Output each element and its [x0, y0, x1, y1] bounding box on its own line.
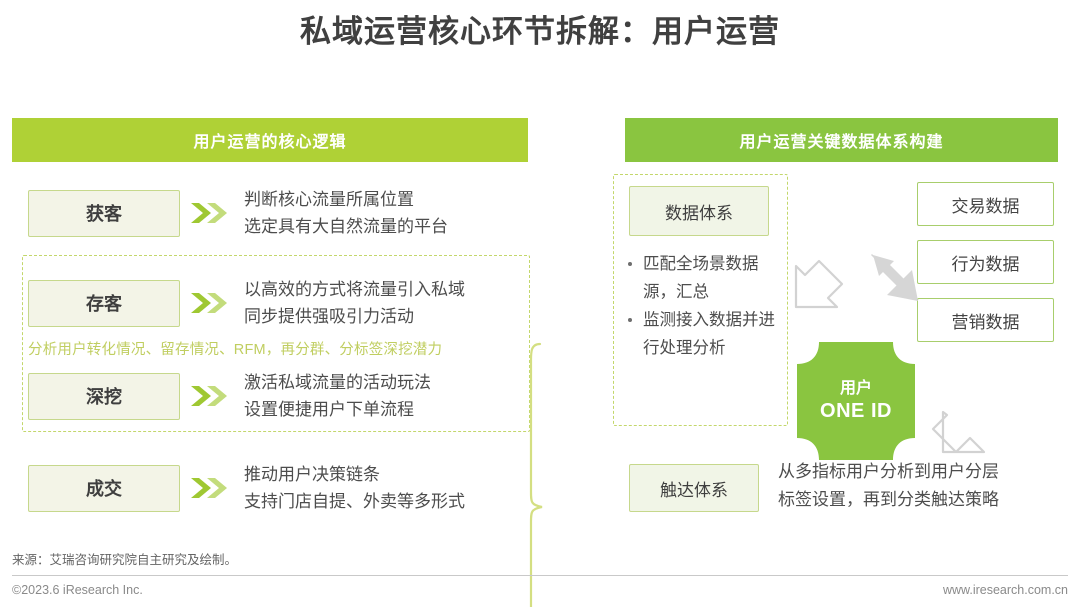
double-chevron-icon: [187, 476, 233, 500]
step-desc-retain: 以高效的方式将流量引入私域 同步提供强吸引力活动: [244, 276, 465, 330]
right-panel-header-label: 用户运营关键数据体系构建: [739, 128, 943, 152]
footer-website: www.iresearch.com.cn: [943, 583, 1068, 597]
curly-brace-icon: [528, 342, 562, 607]
step-desc-deepen: 激活私域流量的活动玩法 设置便捷用户下单流程: [244, 369, 431, 423]
data-tag-behavior[interactable]: 行为数据: [917, 240, 1054, 284]
step-desc-acquire: 判断核心流量所属位置 选定具有大自然流量的平台: [244, 186, 448, 240]
step-row-acquire: 获客 判断核心流量所属位置 选定具有大自然流量的平台: [28, 184, 448, 242]
step-label-deepen: 深挖: [86, 383, 122, 409]
data-system-bullets: 匹配全场景数据源，汇总 监测接入数据并进行处理分析: [626, 250, 781, 362]
double-chevron-icon: [187, 201, 233, 225]
one-id-badge: 用户 ONE ID: [797, 342, 915, 460]
step-label-retain: 存客: [86, 290, 122, 316]
chip-data-system-label: 数据体系: [665, 199, 733, 224]
step-chip-acquire[interactable]: 获客: [28, 190, 180, 237]
arrow-down-right-outline-icon: [796, 261, 842, 307]
data-tag-marketing[interactable]: 营销数据: [917, 298, 1054, 342]
footer-copyright: ©2023.6 iResearch Inc.: [12, 583, 143, 597]
step-row-retain: 存客 以高效的方式将流量引入私域 同步提供强吸引力活动: [28, 274, 465, 332]
data-tag-label: 行为数据: [952, 250, 1020, 275]
left-panel-header-label: 用户运营的核心逻辑: [193, 128, 346, 152]
chip-reach-system[interactable]: 触达体系: [629, 464, 759, 512]
step-label-acquire: 获客: [86, 200, 122, 226]
double-chevron-icon: [187, 291, 233, 315]
step-label-convert: 成交: [86, 475, 122, 501]
analysis-note: 分析用户转化情况、留存情况、RFM，再分群、分标签深挖潜力: [28, 338, 442, 359]
slide-canvas: 私域运营核心环节拆解：用户运营 用户运营的核心逻辑 用户运营关键数据体系构建 获…: [0, 0, 1080, 607]
right-panel-header: 用户运营关键数据体系构建: [625, 118, 1058, 162]
step-desc-convert: 推动用户决策链条 支持门店自提、外卖等多形式: [244, 461, 465, 515]
source-note: 来源：艾瑞咨询研究院自主研究及绘制。: [12, 549, 237, 568]
double-chevron-icon: [187, 384, 233, 408]
arrow-down-left-solid-icon: [871, 254, 918, 301]
step-row-convert: 成交 推动用户决策链条 支持门店自提、外卖等多形式: [28, 459, 465, 517]
right-panel-body: 数据体系 匹配全场景数据源，汇总 监测接入数据并进行处理分析 交易数据 行为数据…: [600, 162, 1080, 542]
arrow-up-left-outline-icon: [933, 412, 984, 452]
list-item: 匹配全场景数据源，汇总: [626, 250, 781, 306]
step-chip-deepen[interactable]: 深挖: [28, 373, 180, 420]
data-tag-transaction[interactable]: 交易数据: [917, 182, 1054, 226]
left-panel-header: 用户运营的核心逻辑: [12, 118, 528, 162]
chip-data-system[interactable]: 数据体系: [629, 186, 769, 236]
chip-reach-system-label: 触达体系: [660, 476, 728, 501]
one-id-shape: [797, 342, 915, 460]
left-panel-body: 获客 判断核心流量所属位置 选定具有大自然流量的平台 存客 以高效的方: [0, 162, 580, 542]
data-tag-label: 交易数据: [952, 192, 1020, 217]
step-chip-convert[interactable]: 成交: [28, 465, 180, 512]
page-title: 私域运营核心环节拆解：用户运营: [0, 10, 1080, 54]
footer-divider: [12, 575, 1068, 576]
list-item: 监测接入数据并进行处理分析: [626, 306, 781, 362]
reach-system-description: 从多指标用户分析到用户分层 标签设置，再到分类触达策略: [778, 458, 999, 514]
step-chip-retain[interactable]: 存客: [28, 280, 180, 327]
data-tag-label: 营销数据: [952, 308, 1020, 333]
step-row-deepen: 深挖 激活私域流量的活动玩法 设置便捷用户下单流程: [28, 367, 431, 425]
